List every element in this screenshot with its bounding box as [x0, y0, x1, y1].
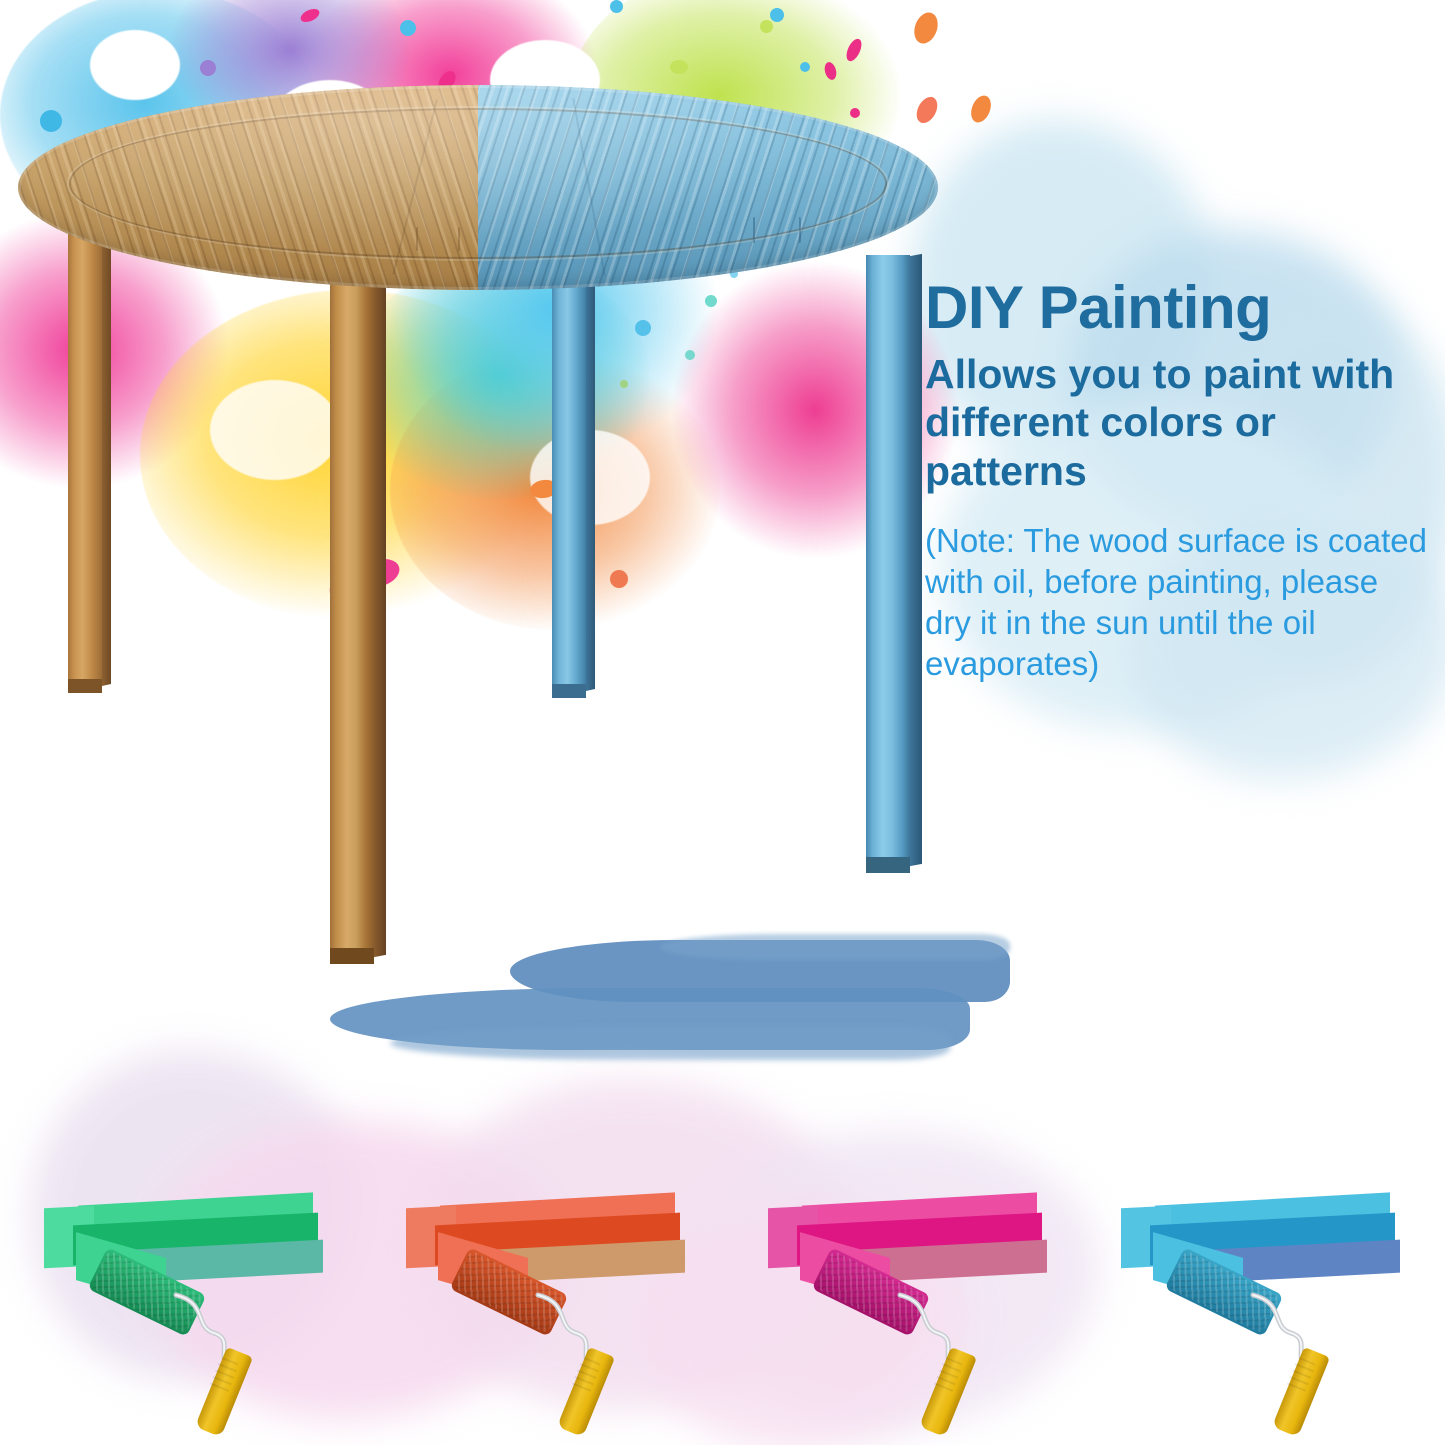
droplet-cyan-tr-a — [770, 8, 784, 22]
table-top-joint-cleat-2 — [416, 227, 460, 251]
leg-foot — [330, 948, 374, 964]
table-leg-front-right-painted — [866, 255, 910, 865]
page-title: DIY Painting — [925, 278, 1430, 338]
leg-face — [330, 250, 374, 956]
blue-paint-roller — [1157, 1263, 1337, 1428]
leg-foot — [68, 679, 102, 693]
roller-swatch-green — [18, 1145, 380, 1445]
roller-swatch-orange — [380, 1145, 742, 1445]
leg-foot — [866, 857, 910, 873]
leg-foot — [552, 684, 586, 698]
leg-side — [586, 227, 595, 691]
green-paint-roller — [80, 1263, 260, 1428]
leg-side — [374, 249, 386, 957]
table-top — [18, 85, 938, 290]
droplet-orange-tr-a — [910, 9, 942, 47]
roller-swatch-pink — [742, 1145, 1104, 1445]
diy-painting-promo-image: DIY Painting Allows you to paint with di… — [0, 0, 1445, 1445]
droplet-cyan-c — [400, 20, 416, 36]
table-top-joint-cleat — [753, 217, 801, 243]
table-leg-rear-right-painted — [552, 228, 586, 690]
text-block: DIY Painting Allows you to paint with di… — [925, 278, 1430, 685]
droplet-orange-tr-b — [967, 93, 994, 126]
note-text: (Note: The wood surface is coated with o… — [925, 521, 1430, 685]
table-top-surface — [18, 85, 938, 290]
leg-side — [910, 254, 922, 866]
table-top-shading — [18, 85, 938, 290]
leg-face — [866, 255, 910, 865]
orange-paint-roller — [442, 1263, 622, 1428]
pink-paint-roller — [804, 1263, 984, 1428]
table-leg-front-left — [330, 250, 374, 956]
roller-swatch-blue — [1095, 1145, 1445, 1445]
subtitle-text: Allows you to paint with different color… — [925, 350, 1430, 495]
round-dining-table — [0, 60, 960, 980]
leg-face — [552, 228, 586, 690]
